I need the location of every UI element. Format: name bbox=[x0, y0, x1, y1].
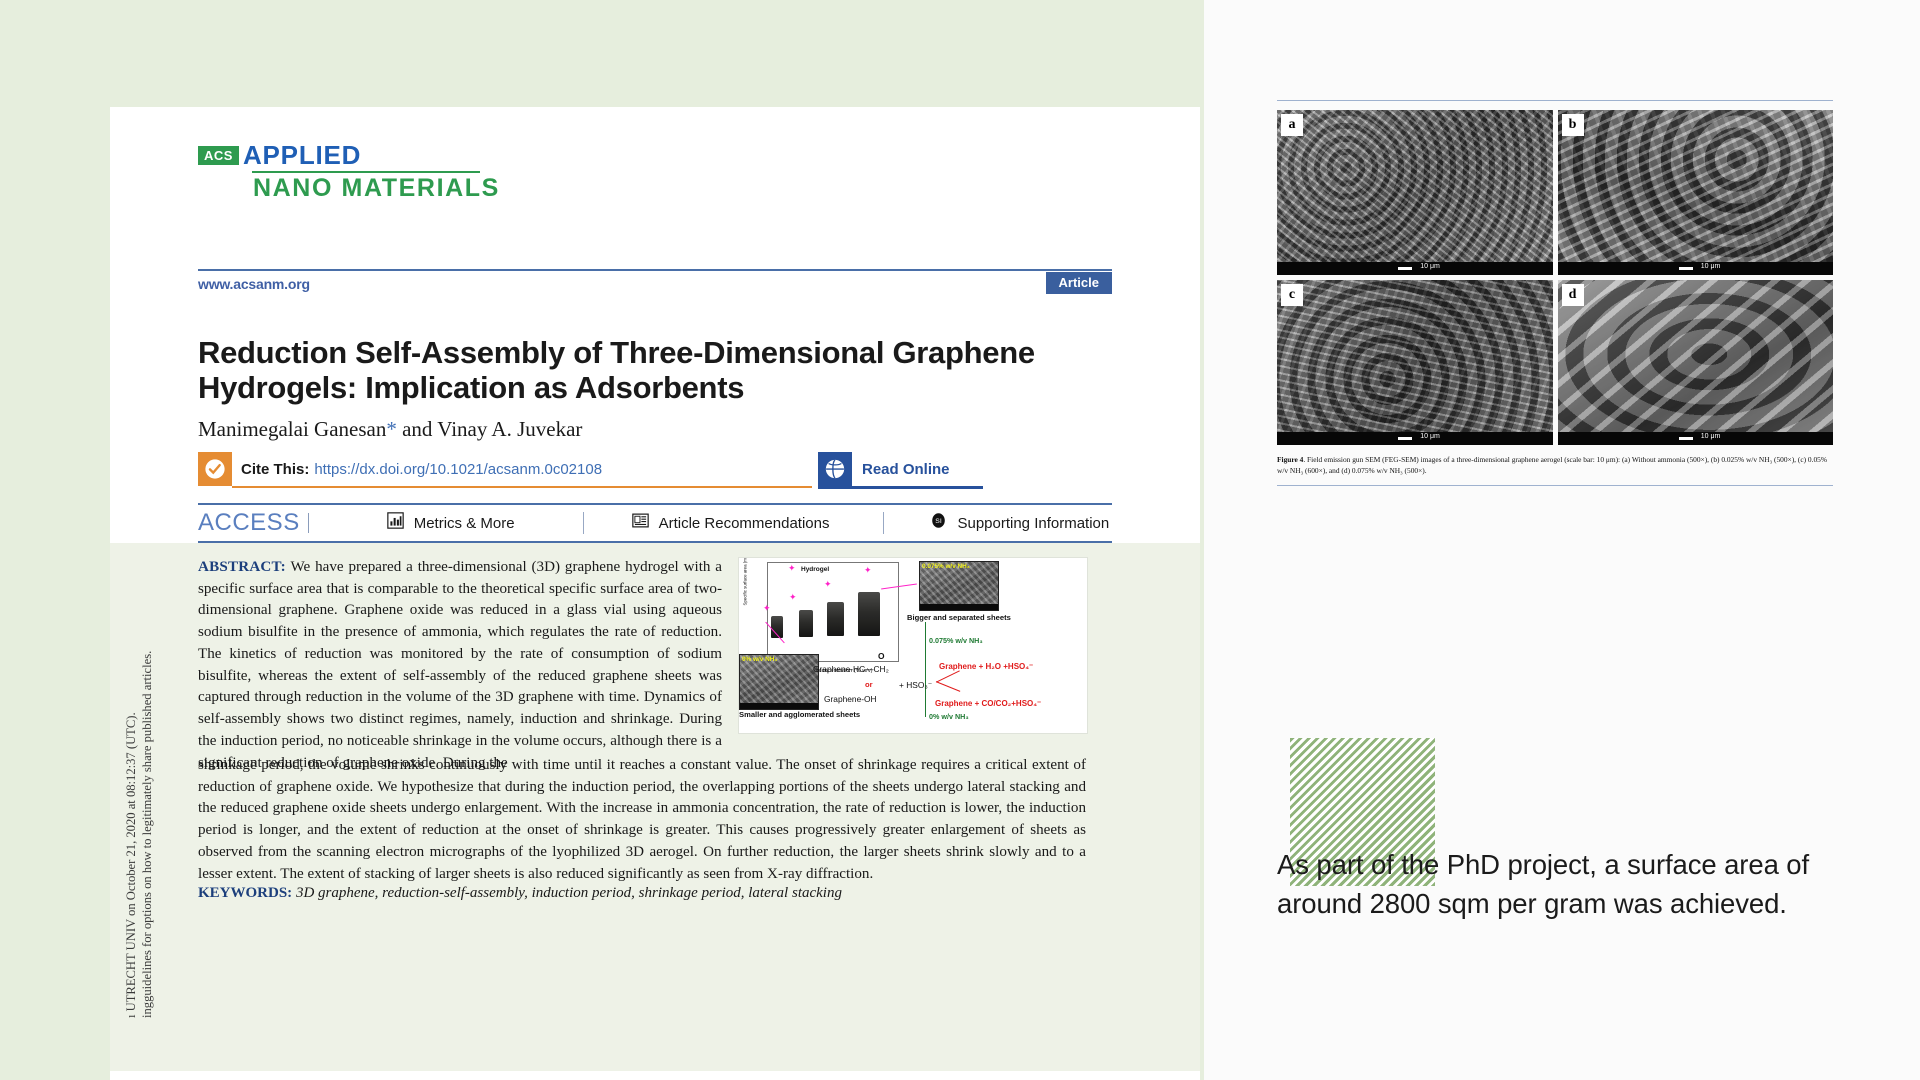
abstract-paragraph-narrow: ABSTRACT: We have prepared a three-dimen… bbox=[198, 557, 722, 774]
abstract-heading: ABSTRACT: bbox=[198, 559, 286, 575]
access-separator-1 bbox=[583, 512, 584, 534]
acs-logo-badge: ACS bbox=[198, 146, 239, 165]
ga-smaller-sheets-label: Smaller and agglomerated sheets bbox=[739, 710, 860, 719]
scalebar-tick bbox=[1398, 267, 1412, 270]
slide-canvas: ACS APPLIED NANO MATERIALS www.acsanm.or… bbox=[0, 0, 1920, 1080]
check-circle-icon bbox=[198, 452, 232, 486]
si-badge-icon: SI bbox=[930, 512, 947, 534]
ga-chem-line-2: Graphene-OH bbox=[824, 694, 877, 704]
ga-chem-or: or bbox=[865, 680, 873, 689]
globe-icon bbox=[818, 452, 852, 486]
access-divider bbox=[308, 513, 309, 533]
abstract-section: ABSTRACT: We have prepared a three-dimen… bbox=[110, 543, 1200, 1071]
ga-red-arrow-bottom bbox=[936, 681, 961, 692]
sem-texture-c bbox=[1277, 280, 1553, 445]
sem-texture-b bbox=[1558, 110, 1834, 275]
page-title: Reduction Self-Assembly of Three-Dimensi… bbox=[198, 335, 1048, 406]
access-label: ACCESS bbox=[198, 511, 300, 535]
keywords-heading: KEYWORDS: bbox=[198, 885, 292, 901]
keywords-list: 3D graphene, reduction-self-assembly, in… bbox=[296, 885, 842, 901]
slide-note-text: As part of the PhD project, a surface ar… bbox=[1277, 845, 1852, 923]
journal-url-bar: www.acsanm.org Article bbox=[198, 269, 1112, 298]
download-stamp-line-2: ingguidelines for options on how to legi… bbox=[140, 651, 155, 1018]
ga-data-star: ✦ bbox=[788, 564, 796, 573]
author-secondary: and Vinay A. Juvekar bbox=[397, 417, 583, 441]
ga-data-star: ✦ bbox=[864, 566, 872, 575]
author-primary: Manimegalai Ganesan bbox=[198, 417, 386, 441]
figure-rule-top bbox=[1277, 100, 1833, 101]
metrics-and-more-link[interactable]: Metrics & More bbox=[387, 512, 515, 534]
read-online-underline bbox=[818, 486, 983, 489]
journal-name-nano-materials: NANO MATERIALS bbox=[253, 175, 618, 203]
sem-panel-label-d: d bbox=[1562, 284, 1584, 306]
sem-panel-label-a: a bbox=[1281, 114, 1303, 136]
graphical-abstract-figure: Specific surface area (m²/g) Ammonia con… bbox=[738, 557, 1088, 734]
svg-text:SI: SI bbox=[936, 518, 943, 525]
ga-vial-4 bbox=[858, 592, 880, 636]
ga-chem-line-1: Graphene-HC—CH₂ bbox=[813, 664, 889, 674]
sem-texture-d bbox=[1558, 280, 1834, 445]
scalebar-text-c: 10 μm bbox=[1420, 433, 1440, 440]
ga-green-connector bbox=[925, 622, 926, 717]
ga-data-star: ✦ bbox=[824, 580, 832, 589]
scalebar-tick bbox=[1398, 437, 1412, 440]
article-recommendations-label: Article Recommendations bbox=[659, 515, 830, 532]
ga-product-top: Graphene + H₂O +HSO₄⁻ bbox=[939, 662, 1033, 671]
ga-sem-top-label: 0.075% w/v NH₃ bbox=[922, 563, 970, 570]
access-separator-2 bbox=[883, 512, 884, 534]
sem-scalebar-a: 10 μm bbox=[1277, 262, 1553, 275]
corresponding-author-star: * bbox=[386, 417, 397, 441]
sem-scalebar-c: 10 μm bbox=[1277, 432, 1553, 445]
read-online-button[interactable]: Read Online bbox=[818, 452, 950, 486]
sem-panel-d: d 10 μm bbox=[1558, 280, 1834, 445]
scalebar-text-a: 10 μm bbox=[1420, 263, 1440, 270]
ga-sem-inset-top: 0.075% w/v NH₃ bbox=[919, 561, 999, 611]
cite-underline bbox=[232, 486, 812, 488]
doi-link[interactable]: https://dx.doi.org/10.1021/acsanm.0c0210… bbox=[314, 461, 602, 478]
article-recommendations-link[interactable]: Article Recommendations bbox=[632, 512, 830, 534]
ga-sem-inset-bottom: 0% w/v NH₃ bbox=[739, 654, 819, 710]
cite-this-row[interactable]: Cite This: https://dx.doi.org/10.1021/ac… bbox=[198, 452, 1112, 486]
ga-green-bottom-label: 0% w/v NH₃ bbox=[929, 712, 969, 721]
scalebar-tick bbox=[1679, 437, 1693, 440]
article-type-badge: Article bbox=[1046, 272, 1112, 294]
ga-hydrogel-label: Hydrogel bbox=[801, 566, 829, 573]
ga-vial-2 bbox=[799, 610, 813, 637]
access-bar: ACCESS Metric bbox=[198, 503, 1112, 543]
divider-top bbox=[198, 269, 1112, 271]
figure-rule-bottom bbox=[1277, 485, 1833, 486]
sem-scalebar-b: 10 μm bbox=[1558, 262, 1834, 275]
ga-sem-scalebar-bottom bbox=[740, 703, 818, 709]
metrics-and-more-label: Metrics & More bbox=[414, 515, 515, 532]
paper-page-image: ACS APPLIED NANO MATERIALS www.acsanm.or… bbox=[110, 107, 1200, 1080]
sem-panel-label-b: b bbox=[1562, 114, 1584, 136]
scalebar-text-d: 10 μm bbox=[1701, 433, 1721, 440]
abstract-paragraph-wide: shrinkage period, the volume shrinks con… bbox=[198, 755, 1086, 885]
ga-bigger-sheets-label: Bigger and separated sheets bbox=[907, 613, 1011, 622]
bar-chart-icon bbox=[387, 512, 404, 534]
figure-number: Figure 4 bbox=[1277, 455, 1303, 464]
journal-masthead: ACS APPLIED NANO MATERIALS bbox=[198, 142, 618, 203]
figure-caption: Figure 4. Field emission gun SEM (FEG-SE… bbox=[1277, 454, 1833, 477]
ga-sem-bottom-label: 0% w/v NH₃ bbox=[742, 656, 777, 663]
sem-panel-b: b 10 μm bbox=[1558, 110, 1834, 275]
figure-card: a 10 μm b 10 μm c 10 μm bbox=[1277, 100, 1833, 486]
sem-image-grid: a 10 μm b 10 μm c 10 μm bbox=[1277, 110, 1833, 445]
supporting-information-link[interactable]: SI Supporting Information bbox=[930, 512, 1109, 534]
ga-data-star: ✦ bbox=[789, 593, 797, 602]
journal-url[interactable]: www.acsanm.org bbox=[198, 276, 310, 292]
sem-panel-label-c: c bbox=[1281, 284, 1303, 306]
sem-scalebar-d: 10 μm bbox=[1558, 432, 1834, 445]
scalebar-text-b: 10 μm bbox=[1701, 263, 1721, 270]
sem-texture-a bbox=[1277, 110, 1553, 275]
sem-panel-c: c 10 μm bbox=[1277, 280, 1553, 445]
ga-red-arrow-top bbox=[936, 670, 960, 683]
article-icon bbox=[632, 512, 649, 534]
supporting-information-label: Supporting Information bbox=[957, 515, 1109, 532]
ga-vial-3 bbox=[827, 602, 844, 636]
download-stamp-line-1: ı UTRECHT UNIV on October 21, 2020 at 08… bbox=[124, 712, 139, 1018]
abstract-body-narrow: We have prepared a three-dimensional (3D… bbox=[198, 559, 722, 771]
read-online-label: Read Online bbox=[862, 461, 950, 478]
ga-chem-reagent: + HSO₃⁻ bbox=[899, 680, 932, 690]
keywords-row: KEYWORDS: 3D graphene, reduction-self-as… bbox=[198, 885, 1098, 902]
sem-panel-a: a 10 μm bbox=[1277, 110, 1553, 275]
ga-data-star: ✦ bbox=[763, 604, 771, 613]
ga-epoxide-oxygen: O bbox=[878, 651, 885, 661]
masthead-rule bbox=[252, 171, 480, 173]
author-list: Manimegalai Ganesan* and Vinay A. Juveka… bbox=[198, 417, 582, 442]
ga-sem-scalebar-top bbox=[920, 604, 998, 610]
ga-y-axis-label: Specific surface area (m²/g) bbox=[743, 557, 748, 619]
figure-caption-text: . Field emission gun SEM (FEG-SEM) image… bbox=[1277, 455, 1827, 475]
ga-green-top-label: 0.075% w/v NH₃ bbox=[929, 636, 983, 645]
ga-product-bottom: Graphene + CO/CO₂+HSO₄⁻ bbox=[935, 699, 1041, 708]
scalebar-tick bbox=[1679, 267, 1693, 270]
cite-this-label: Cite This: bbox=[241, 461, 309, 478]
journal-name-applied: APPLIED bbox=[243, 142, 361, 168]
